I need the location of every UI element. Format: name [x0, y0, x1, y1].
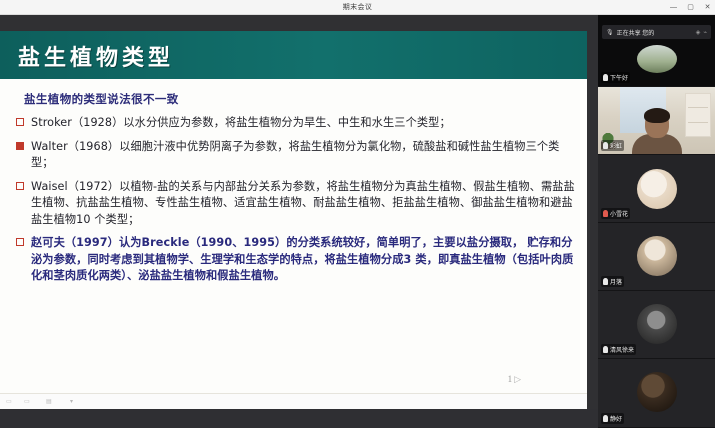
avatar — [637, 372, 677, 412]
self-view-thumbnail — [637, 45, 677, 73]
page-number-value: 1 — [508, 374, 513, 384]
participant-name: 静好 — [610, 414, 622, 423]
participant-name: 月落 — [610, 277, 622, 286]
play-triangle-icon: ▷ — [514, 374, 521, 385]
minimize-button[interactable]: — — [669, 4, 678, 11]
participant-tile[interactable]: 月落 — [598, 223, 715, 291]
mic-icon — [603, 415, 608, 422]
ppt-mini-icon-4[interactable]: ▾ — [70, 398, 73, 405]
bullet-text: Stroker（1928）以水分供应为参数，将盐生植物分为旱生、中生和水生三个类… — [31, 115, 451, 132]
more-icon[interactable]: ⌁ — [703, 29, 707, 36]
slide-body: 盐生植物的类型说法很不一致 Stroker（1928）以水分供应为参数，将盐生植… — [0, 79, 587, 393]
mic-icon — [603, 346, 608, 353]
participant-figure — [631, 110, 683, 154]
participant-name: 小雪花 — [610, 209, 628, 218]
bullet-marker-icon — [16, 182, 24, 190]
avatar — [637, 169, 677, 209]
mic-muted-icon — [603, 210, 608, 217]
participant-tile[interactable]: 静好 — [598, 359, 715, 428]
ppt-mini-icon-3[interactable]: ▤ — [46, 398, 52, 405]
participant-name: 彩虹 — [610, 141, 622, 150]
slide-title: 盐生植物类型 — [18, 40, 174, 72]
ppt-mini-icon-2[interactable]: ▭ — [24, 398, 30, 405]
bullet-waisel: Waisel（1972）以植物-盐的关系与内部盐分关系为参数，将盐生植物分为真盐… — [14, 179, 577, 229]
window-title: 期末会议 — [343, 2, 373, 12]
self-view-controlbar[interactable]: 🎙 正在共享 您的 ◈ ⌁ — [602, 25, 711, 39]
slide-title-band: 盐生植物类型 — [0, 31, 587, 79]
bottom-bar: ▣ 🎙 台式2u联188.9中 — [0, 409, 598, 428]
bullet-marker-icon — [16, 238, 24, 246]
participant-namechip: 月落 — [601, 276, 624, 287]
participant-namechip: 静好 — [601, 413, 624, 424]
participant-namechip: 彩虹 — [601, 140, 624, 151]
bullet-zhaokefu: 赵可夫（1997）认为Breckle（1990、1995）的分类系统较好，简单明… — [14, 235, 577, 285]
presentation-toolbar-strip: ▭ ▭ ▤ ▾ — [0, 393, 587, 409]
self-view-label: 下午好 — [610, 73, 628, 82]
bullet-text: 赵可夫（1997）认为Breckle（1990、1995）的分类系统较好，简单明… — [31, 235, 577, 285]
participant-namechip: 清风徐来 — [601, 344, 636, 355]
bullet-marker-icon — [16, 142, 24, 150]
bullet-marker-icon — [16, 118, 24, 126]
bullet-text: Walter（1968）以细胞汁液中优势阴离子为参数，将盐生植物分为氯化物，硫酸… — [31, 139, 577, 172]
participant-namechip: 小雪花 — [601, 208, 630, 219]
background-shelf — [685, 93, 711, 137]
ppt-mini-icon-1[interactable]: ▭ — [6, 398, 12, 405]
participant-rail[interactable]: 🎙 正在共享 您的 ◈ ⌁ 下午好 — [598, 15, 715, 428]
bullet-stroker: Stroker（1928）以水分供应为参数，将盐生植物分为旱生、中生和水生三个类… — [14, 115, 577, 132]
presentation-slide: 盐生植物类型 盐生植物的类型说法很不一致 Stroker（1928）以水分供应为… — [0, 31, 587, 393]
slide-page-number: 1▷ — [508, 374, 521, 385]
self-view-namechip: 下午好 — [601, 72, 630, 83]
participant-tile[interactable]: 清风徐来 — [598, 291, 715, 359]
avatar — [637, 236, 677, 276]
slide-subtitle: 盐生植物的类型说法很不一致 — [24, 91, 577, 107]
shared-screen-stage: 盐生植物类型 盐生植物的类型说法很不一致 Stroker（1928）以水分供应为… — [0, 15, 598, 428]
self-view-name: 正在共享 您的 — [617, 28, 655, 37]
figure-hair — [644, 108, 670, 123]
close-button[interactable]: ✕ — [703, 4, 712, 11]
window-titlebar: 期末会议 — ▢ ✕ — [0, 0, 715, 15]
window-controls: — ▢ ✕ — [669, 0, 712, 15]
participant-name: 清风徐来 — [610, 345, 634, 354]
avatar — [637, 304, 677, 344]
pin-icon[interactable]: ◈ — [696, 29, 701, 36]
mic-icon — [603, 74, 608, 81]
mic-icon[interactable]: 🎙 — [606, 29, 614, 36]
self-view-tile[interactable]: 🎙 正在共享 您的 ◈ ⌁ 下午好 — [598, 15, 715, 87]
mic-icon — [603, 142, 608, 149]
meeting-window: 期末会议 — ▢ ✕ 盐生植物类型 盐生植物的类型说法很不一致 Stroker（… — [0, 0, 715, 428]
participant-tile[interactable]: 小雪花 — [598, 155, 715, 223]
participant-tile[interactable]: 彩虹 — [598, 87, 715, 155]
mic-icon — [603, 278, 608, 285]
bullet-walter: Walter（1968）以细胞汁液中优势阴离子为参数，将盐生植物分为氯化物，硫酸… — [14, 139, 577, 172]
maximize-button[interactable]: ▢ — [686, 4, 695, 11]
bullet-text: Waisel（1972）以植物-盐的关系与内部盐分关系为参数，将盐生植物分为真盐… — [31, 179, 577, 229]
